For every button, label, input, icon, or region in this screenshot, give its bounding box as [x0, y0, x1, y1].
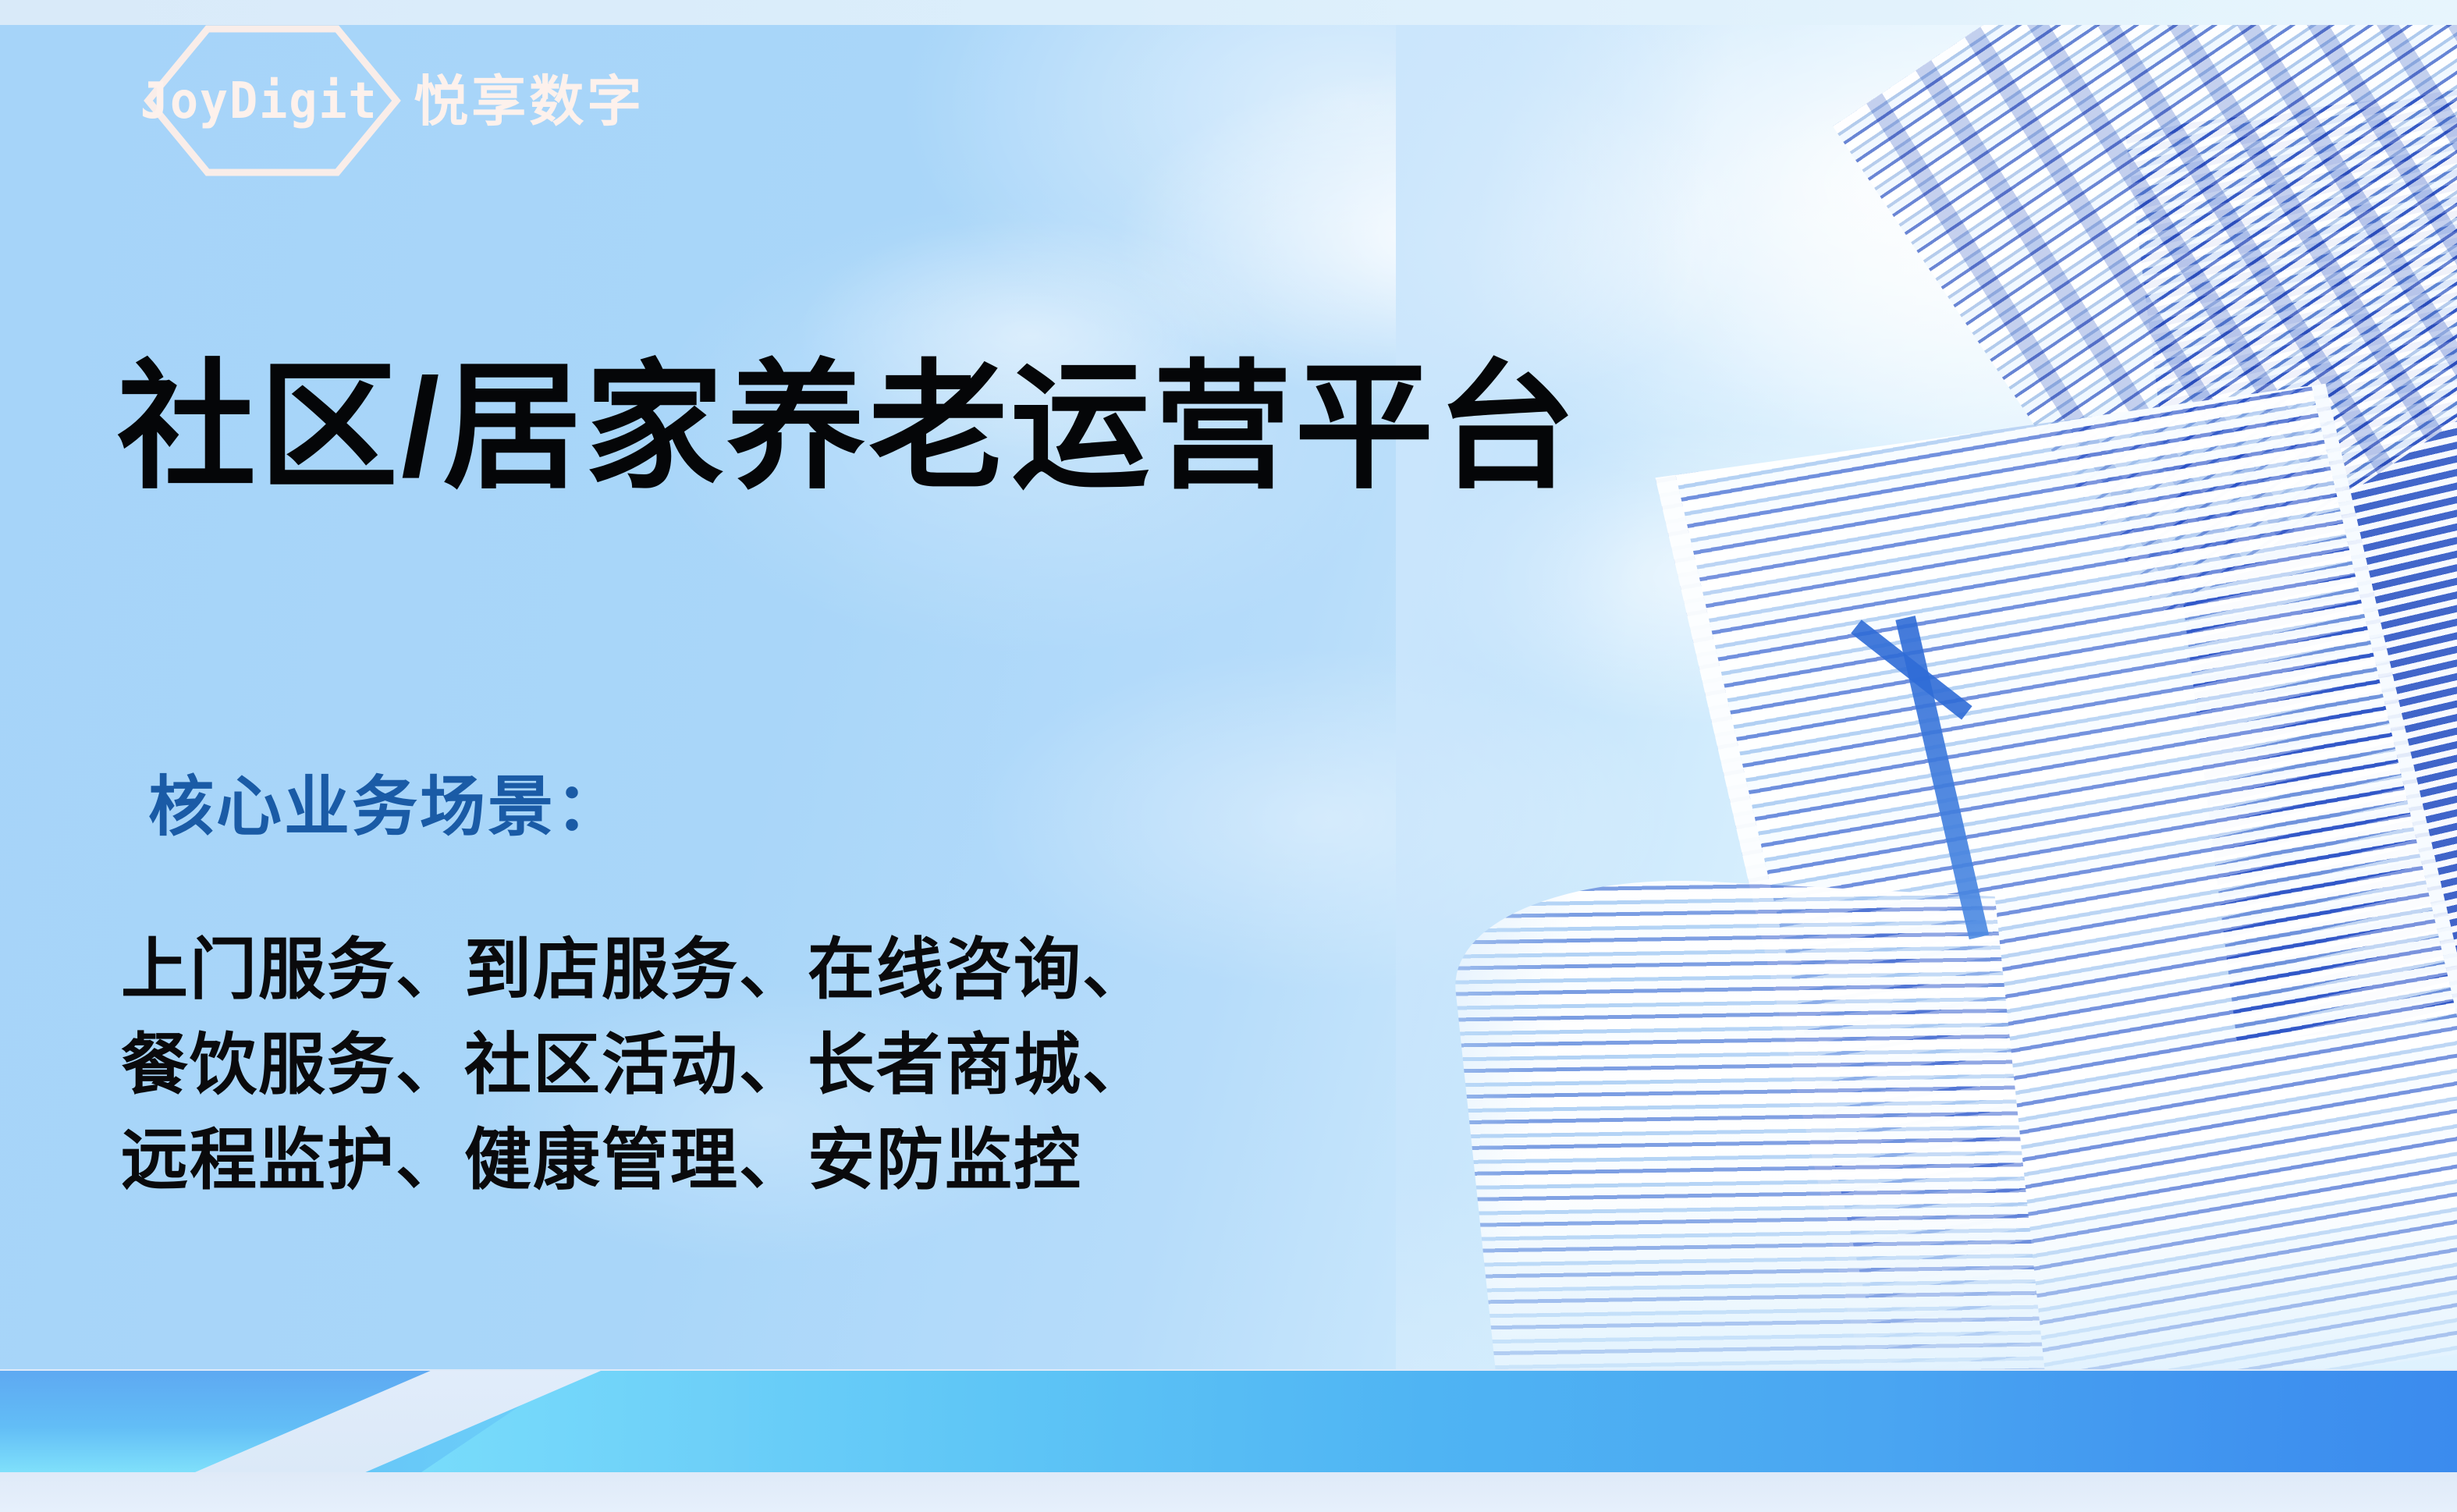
- top-edge-strip: [0, 0, 2457, 25]
- scenario-line: 上门服务、到店服务、在线咨询、: [121, 922, 1151, 1017]
- logo-chinese-name: 悦享数字: [414, 74, 644, 129]
- bottom-edge-strip: [0, 1472, 2457, 1512]
- scenario-line: 远程监护、健康管理、安防监控: [121, 1113, 1151, 1208]
- logo-wordmark: JoyDigit: [140, 76, 378, 126]
- section-heading: 核心业务场景：: [148, 774, 623, 839]
- photo-bottom-fade: [1396, 1182, 2457, 1369]
- slide-canvas: JoyDigit 悦享数字 社区/居家养老运营平台 核心业务场景： 上门服务、到…: [0, 0, 2457, 1512]
- scenario-line: 餐饮服务、社区活动、长者商城、: [121, 1017, 1151, 1113]
- page-title: 社区/居家养老运营平台: [117, 355, 1578, 501]
- skyscraper-photo: [1396, 25, 2457, 1369]
- brand-logo[interactable]: JoyDigit 悦享数字: [133, 59, 644, 144]
- photo-left-fade: [1396, 25, 2457, 1369]
- scenario-list: 上门服务、到店服务、在线咨询、 餐饮服务、社区活动、长者商城、 远程监护、健康管…: [121, 922, 1151, 1208]
